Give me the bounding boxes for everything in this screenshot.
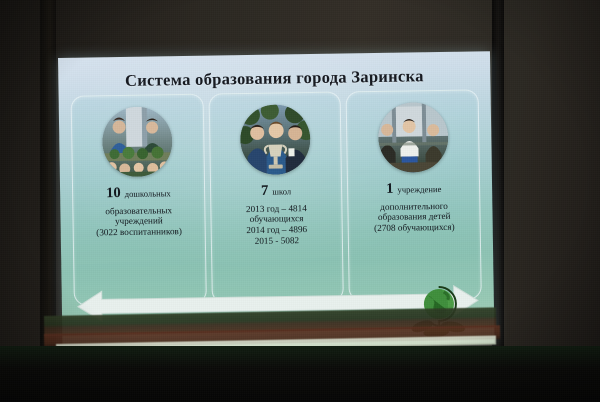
projection-screen-slide: Система образования города Заринска [58, 51, 495, 350]
panel-extra-education-text: 1 учреждение дополнительного образования… [348, 178, 479, 234]
panel-preschool-stat-1: (3022 воспитанников) [77, 226, 202, 239]
panel-preschool: 10 дошкольных образовательных учреждений… [71, 94, 207, 306]
slide-title: Система образования города Заринска [58, 65, 490, 92]
panel-preschool-text: 10 дошкольных образовательных учреждений… [73, 183, 204, 239]
kindergarten-children-photo [102, 106, 173, 177]
foreground-dark-shadow [0, 346, 600, 402]
panel-schools: 7 школ 2013 год – 4814 обучающихся 2014 … [208, 92, 344, 304]
panel-preschool-number: 10 [106, 185, 121, 201]
panel-preschool-lead: дошкольных [125, 188, 171, 199]
panel-row: 10 дошкольных образовательных учреждений… [71, 89, 482, 305]
panel-extra-education: 1 учреждение дополнительного образования… [346, 89, 482, 301]
panel-schools-stat-4: 2015 - 5082 [214, 234, 339, 247]
panel-schools-text: 7 школ 2013 год – 4814 обучающихся 2014 … [211, 181, 343, 247]
panel-extra-education-number: 1 [386, 181, 394, 197]
panel-schools-number: 7 [261, 183, 269, 199]
panel-schools-lead: школ [272, 186, 291, 196]
students-trophy-photo [240, 104, 311, 175]
room-background: Система образования города Заринска [0, 0, 600, 402]
panel-extra-education-lead: учреждение [397, 184, 441, 195]
classroom-children-photo [377, 102, 448, 173]
panel-extra-education-stat-1: (2708 обучающихся) [352, 221, 477, 234]
